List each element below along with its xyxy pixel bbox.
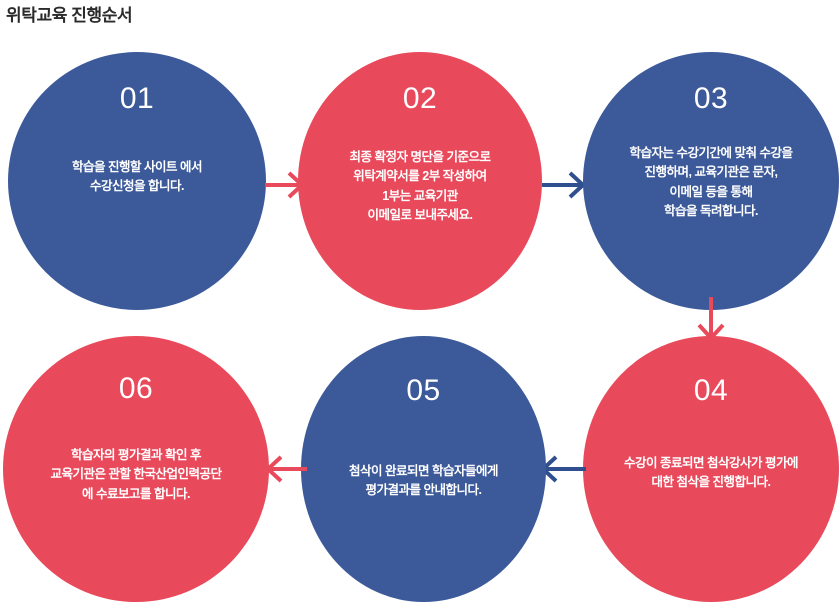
flow-step-04-number: 04	[694, 376, 728, 406]
flow-step-02-number: 02	[403, 84, 437, 114]
flow-step-06-text: 학습자의 평가결과 확인 후 교육기관은 관할 한국산업인력공단 에 수료보고를…	[51, 446, 222, 504]
arrow-right-icon-step2-to-step3	[540, 163, 588, 207]
flow-step-05-text: 첨삭이 완료되면 학습자들에게 평가결과를 안내합니다.	[349, 462, 498, 501]
flow-step-01: 01 학습을 진행할 사이트 에서 수강신청을 합니다.	[8, 52, 266, 310]
flow-step-03-number: 03	[694, 84, 728, 114]
flow-step-04-text: 수강이 종료되면 첨삭강사가 평가에 대한 첨삭을 진행합니다.	[624, 454, 798, 493]
flow-step-03-text: 학습자는 수강기간에 맞춰 수강을 진행하며, 교육기관은 문자, 이메일 등을…	[630, 144, 793, 222]
diagram-canvas: 위탁교육 진행순서 01 학습을 진행할 사이트 에서 수강신청을 합니다. 0…	[0, 0, 840, 615]
flow-step-05-number: 05	[406, 376, 440, 406]
flow-step-02-text: 최종 확정자 명단을 기준으로 위탁계약서를 2부 작성하여 1부는 교육기관 …	[350, 148, 491, 226]
flow-step-06: 06 학습자의 평가결과 확인 후 교육기관은 관할 한국산업인력공단 에 수료…	[3, 336, 269, 602]
flow-step-02: 02 최종 확정자 명단을 기준으로 위탁계약서를 2부 작성하여 1부는 교육…	[298, 52, 542, 310]
flow-step-06-number: 06	[119, 374, 153, 404]
page-title: 위탁교육 진행순서	[6, 1, 132, 26]
flow-step-05: 05 첨삭이 완료되면 학습자들에게 평가결과를 안내합니다.	[301, 336, 546, 602]
flow-step-01-number: 01	[120, 84, 154, 114]
flow-step-01-text: 학습을 진행할 사이트 에서 수강신청을 합니다.	[72, 158, 202, 197]
flow-step-04: 04 수강이 종료되면 첨삭강사가 평가에 대한 첨삭을 진행합니다.	[583, 336, 839, 602]
flow-step-03: 03 학습자는 수강기간에 맞춰 수강을 진행하며, 교육기관은 문자, 이메일…	[583, 52, 839, 310]
